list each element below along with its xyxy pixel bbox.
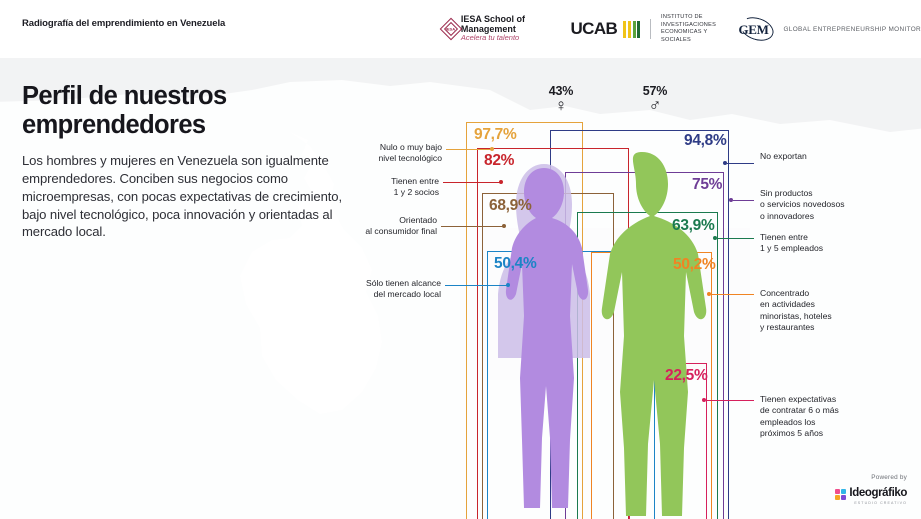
value-label-employees: 63,9% bbox=[672, 217, 714, 235]
value-label-retail: 50,2% bbox=[673, 256, 715, 274]
powered-by-label: Powered by bbox=[835, 474, 907, 481]
callout-retail-line3: minoristas, hoteles bbox=[760, 311, 832, 321]
callout-tech-line1: Nulo o muy bajo bbox=[380, 142, 442, 152]
callout-partners-line2: 1 y 2 socios bbox=[394, 187, 439, 197]
powered-by-block: Powered by Ideográfiko ESTUDIO CREATIVO bbox=[835, 474, 907, 505]
leader-line-consumer bbox=[441, 226, 504, 227]
leader-line-local bbox=[445, 285, 508, 286]
callout-retail-line4: y restaurantes bbox=[760, 322, 814, 332]
chart-area: 43% ♀ 57% ♂ 97,7% 94,8% 82% 75% 68,9% 63… bbox=[0, 0, 921, 519]
value-label-local: 50,4% bbox=[494, 255, 536, 273]
callout-tech: Nulo o muy bajo nivel tecnológico bbox=[256, 142, 442, 165]
ideografiko-name: Ideográfiko bbox=[849, 487, 907, 499]
leader-line-export bbox=[727, 163, 754, 164]
callout-consumer: Orientado al consumidor final bbox=[256, 215, 437, 238]
callout-export: No exportan bbox=[760, 151, 807, 162]
callout-hiring-line1: Tienen expectativas bbox=[760, 394, 836, 404]
callout-export-line1: No exportan bbox=[760, 151, 807, 161]
male-symbol-icon: ♂ bbox=[625, 97, 685, 114]
female-symbol-icon: ♀ bbox=[531, 97, 591, 114]
callout-hiring-line3: empleados los bbox=[760, 417, 815, 427]
callout-employees-line2: 1 y 5 empleados bbox=[760, 243, 823, 253]
callout-hiring-line2: de contratar 6 o más bbox=[760, 405, 839, 415]
gender-marker-male: 57% ♂ bbox=[625, 84, 685, 114]
value-label-tech: 97,7% bbox=[474, 126, 516, 144]
leader-line-employees bbox=[717, 238, 754, 239]
callout-consumer-line2: al consumidor final bbox=[365, 226, 437, 236]
callout-partners: Tienen entre 1 y 2 socios bbox=[256, 176, 439, 199]
ideografiko-tagline: ESTUDIO CREATIVO bbox=[849, 501, 907, 505]
value-label-consumer: 68,9% bbox=[489, 197, 531, 215]
leader-line-tech bbox=[446, 149, 492, 150]
value-label-innovation: 75% bbox=[692, 176, 722, 194]
callout-hiring-line4: próximos 5 años bbox=[760, 428, 823, 438]
callout-retail-line1: Concentrado bbox=[760, 288, 809, 298]
callout-innovation-line3: o innovadores bbox=[760, 211, 814, 221]
callout-retail-line2: en actividades bbox=[760, 299, 815, 309]
callout-innovation-line1: Sin productos bbox=[760, 188, 813, 198]
leader-line-partners bbox=[443, 182, 501, 183]
callout-employees: Tienen entre 1 y 5 empleados bbox=[760, 232, 823, 255]
callout-consumer-line1: Orientado bbox=[399, 215, 437, 225]
male-figure-shape bbox=[602, 152, 707, 516]
callout-partners-line1: Tienen entre bbox=[391, 176, 439, 186]
gender-marker-female: 43% ♀ bbox=[531, 84, 591, 114]
callout-innovation-line2: o servicios novedosos bbox=[760, 199, 845, 209]
value-label-partners: 82% bbox=[484, 152, 514, 170]
callout-employees-line1: Tienen entre bbox=[760, 232, 808, 242]
callout-local-line2: del mercado local bbox=[374, 289, 441, 299]
value-label-export: 94,8% bbox=[684, 132, 726, 150]
ideografiko-blocks-icon bbox=[835, 489, 846, 500]
ideografiko-logo: Ideográfiko ESTUDIO CREATIVO bbox=[835, 483, 907, 505]
leader-line-hiring bbox=[706, 400, 754, 401]
callout-local-line1: Sólo tienen alcance bbox=[366, 278, 441, 288]
callout-innovation: Sin productos o servicios novedosos o in… bbox=[760, 188, 845, 222]
callout-retail: Concentrado en actividades minoristas, h… bbox=[760, 288, 832, 333]
callout-hiring: Tienen expectativas de contratar 6 o más… bbox=[760, 394, 839, 439]
callout-local: Sólo tienen alcance del mercado local bbox=[256, 278, 441, 301]
callout-tech-line2: nivel tecnológico bbox=[378, 153, 442, 163]
value-label-hiring: 22,5% bbox=[665, 367, 707, 385]
leader-line-retail bbox=[711, 294, 754, 295]
leader-line-innovation bbox=[733, 200, 754, 201]
